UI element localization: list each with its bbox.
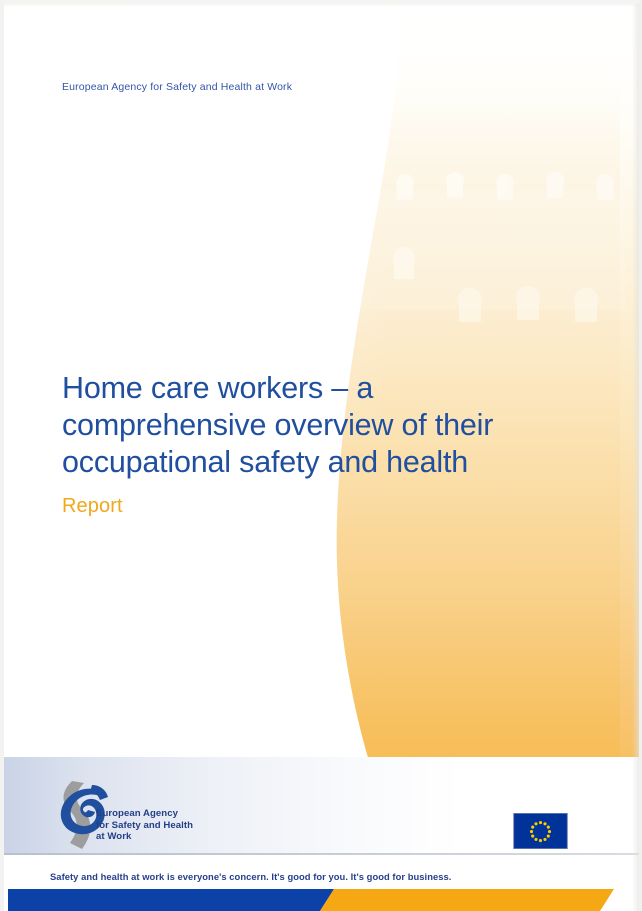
page-title-line-2: comprehensive overview of their bbox=[62, 407, 532, 444]
logo-text-line-1: European Agency bbox=[96, 808, 193, 820]
footer-band-divider bbox=[0, 853, 642, 855]
bottom-colour-bar bbox=[0, 889, 642, 911]
logo-text-line-2: for Safety and Health bbox=[96, 820, 193, 832]
eu-osha-logo-text: European Agency for Safety and Health at… bbox=[96, 808, 193, 843]
eu-flag-icon bbox=[513, 813, 568, 849]
document-subtitle: Report bbox=[62, 494, 532, 518]
title-block: Home care workers – a comprehensive over… bbox=[62, 370, 532, 518]
safety-tagline: Safety and health at work is everyone's … bbox=[50, 871, 451, 882]
organisation-header: European Agency for Safety and Health at… bbox=[62, 81, 292, 93]
page-title-line-3: occupational safety and health bbox=[62, 444, 532, 481]
logo-text-line-3: at Work bbox=[96, 831, 193, 843]
report-cover-page: European Agency for Safety and Health at… bbox=[0, 0, 642, 911]
page-title-line-1: Home care workers – a bbox=[62, 370, 532, 407]
bottom-bar-orange-segment bbox=[320, 889, 614, 911]
bottom-bar-blue-segment bbox=[8, 889, 334, 911]
